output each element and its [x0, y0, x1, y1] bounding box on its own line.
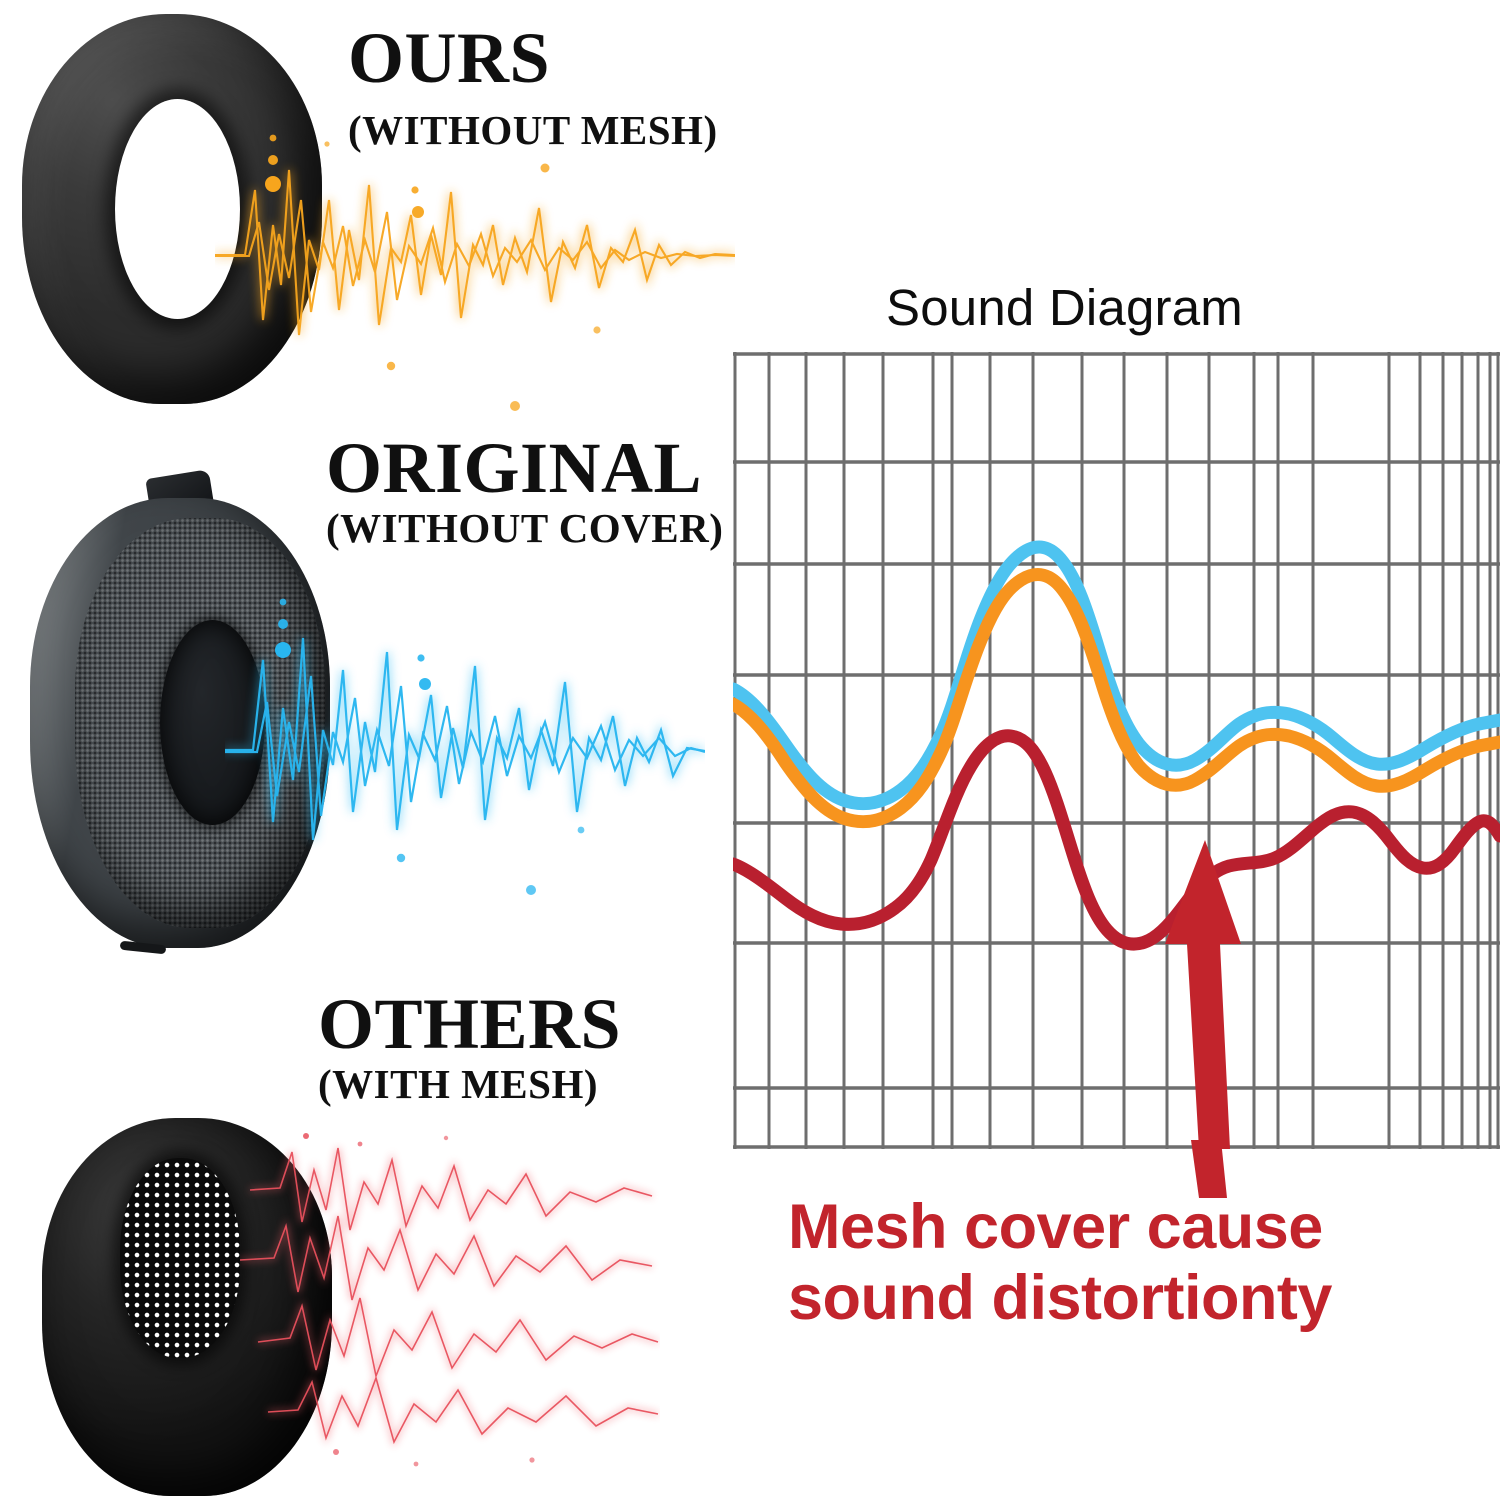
infographic-canvas: OURS (WITHOUT MESH): [0, 0, 1500, 1500]
distortion-callout: Mesh cover cause sound distortionty: [788, 1192, 1478, 1334]
callout-line-1: Mesh cover cause: [788, 1192, 1478, 1263]
chart-vertical-gridlines: [735, 352, 1498, 1149]
label-others-main: OTHERS: [318, 988, 621, 1061]
label-original-sub: (WITHOUT COVER): [326, 508, 723, 550]
label-ours-main: OURS: [348, 22, 550, 95]
distortion-arrow-annotation: [1165, 840, 1241, 1149]
label-original-main: ORIGINAL: [326, 432, 702, 505]
callout-line-2: sound distortionty: [788, 1263, 1478, 1334]
chart-svg: [733, 352, 1500, 1149]
chart-horizontal-gridlines: [733, 354, 1500, 1147]
label-ours-sub: (WITHOUT MESH): [348, 110, 718, 152]
original-waveform-graphic: [225, 590, 705, 920]
chart-title: Sound Diagram: [886, 278, 1243, 337]
label-others-sub: (WITH MESH): [318, 1064, 598, 1106]
others-waveform-graphic: [240, 1130, 660, 1470]
mesh-dot-grid: [120, 1158, 240, 1358]
ours-waveform-graphic: [215, 130, 735, 460]
sound-diagram-chart: [733, 352, 1500, 1149]
